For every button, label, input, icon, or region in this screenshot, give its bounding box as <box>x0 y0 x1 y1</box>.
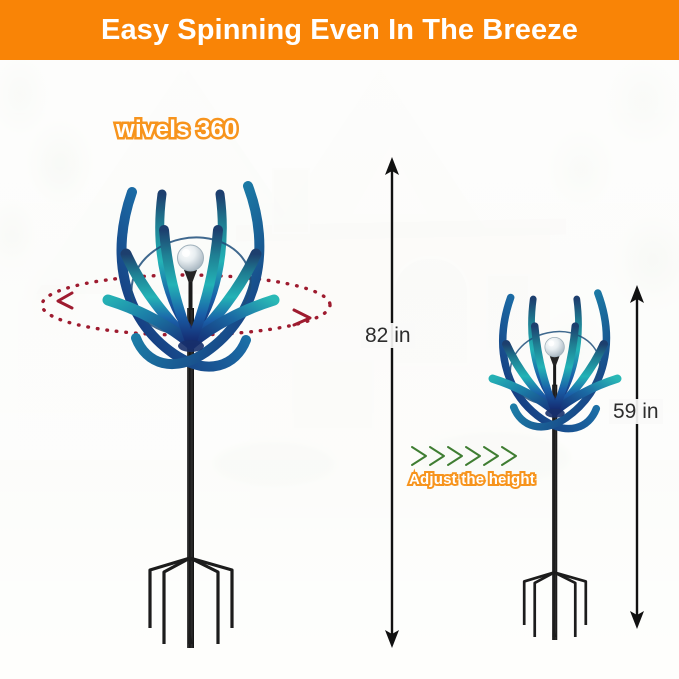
swivel-360-badge: wivels 360 <box>116 116 238 144</box>
chevron-right-icon <box>412 447 426 465</box>
stake-prong <box>554 572 575 637</box>
spinner-hub <box>178 340 204 352</box>
dimension-line-82in <box>380 155 404 650</box>
dimension-label-59in: 59 in <box>609 400 663 424</box>
chevron-right-icon <box>484 447 498 465</box>
crackle-glass-ball <box>178 245 204 271</box>
crackle-glass-ball <box>545 337 565 357</box>
rotation-arrow-left-icon <box>58 293 72 308</box>
stake-prong <box>535 572 555 637</box>
chevron-right-icon <box>448 447 462 465</box>
adjust-height-label: Adjust the height <box>409 471 535 488</box>
stake-prong <box>164 558 190 644</box>
ball-highlight <box>548 340 554 346</box>
dimension-label-82in: 82 in <box>361 324 415 348</box>
chevron-right-icon <box>430 447 444 465</box>
header-banner: Easy Spinning Even In The Breeze <box>0 0 679 60</box>
product-feature-image: Easy Spinning Even In The Breeze wivels … <box>0 0 679 679</box>
adjust-height-annotation: Adjust the height <box>409 443 535 488</box>
ball-cap <box>550 356 560 365</box>
dimension-line-59in <box>625 283 649 631</box>
stake-prong <box>190 558 218 644</box>
banner-title: Easy Spinning Even In The Breeze <box>101 14 578 47</box>
ball-cap <box>184 270 197 282</box>
chevron-right-icon <box>502 447 516 465</box>
wind-spinner-tall <box>96 158 286 648</box>
ball-highlight <box>182 249 190 257</box>
chevron-arrows-icon <box>409 443 529 469</box>
chevron-right-icon <box>466 447 480 465</box>
spinner-hub <box>545 409 565 418</box>
